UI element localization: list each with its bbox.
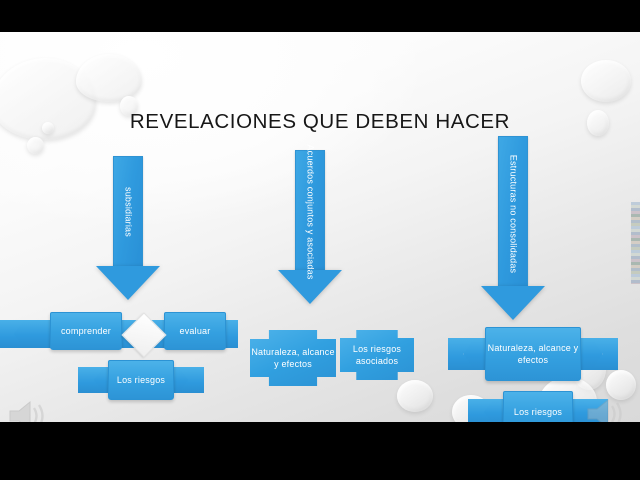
video-player-stage: REVELACIONES QUE DEBEN HACER subsidiaria… <box>0 0 640 480</box>
crossbox-los-riesgos-asociados: Los riesgos asociados <box>340 330 414 380</box>
speaker-icon <box>6 398 48 422</box>
ribbon-plate-los-riesgos: Los riesgos <box>503 391 573 422</box>
slide-canvas: REVELACIONES QUE DEBEN HACER subsidiaria… <box>0 32 640 422</box>
arrow-acuerdos: Acuerdos conjuntos y asociadas <box>270 150 350 305</box>
arrow-estructuras: Estructuras no consolidadas <box>468 136 558 326</box>
droplet-decoration <box>397 380 433 412</box>
arrow-head-icon <box>96 266 160 300</box>
ribbon-left-bottom: Los riesgos <box>78 367 204 393</box>
droplet-decoration <box>76 54 142 102</box>
ribbon-plate-los-riesgos: Los riesgos <box>108 360 174 400</box>
arrow-label: subsidiarias <box>123 187 134 237</box>
edge-color-artifact <box>631 202 640 284</box>
arrow-head-icon <box>481 286 545 320</box>
ribbon-plate-comprender: comprender <box>50 312 122 350</box>
crossbox-naturaleza-alcance-efectos: Naturaleza, alcance y efectos <box>250 330 336 386</box>
arrow-label: Acuerdos conjuntos y asociadas <box>305 144 316 279</box>
ribbon-right-top: Naturaleza, alcance y efectos <box>448 338 618 370</box>
ribbon-plate-evaluar: evaluar <box>164 312 226 350</box>
slide-title: REVELACIONES QUE DEBEN HACER <box>0 110 640 134</box>
ribbon-left-top: comprender evaluar <box>0 320 238 348</box>
droplet-decoration <box>27 137 44 154</box>
letterbox-bar-bottom <box>0 422 640 480</box>
droplet-decoration <box>581 60 631 102</box>
letterbox-bar-top <box>0 0 640 32</box>
arrow-label: Estructuras no consolidadas <box>508 155 519 273</box>
arrow-subsidiarias: subsidiarias <box>88 156 168 301</box>
ribbon-plate-naturaleza: Naturaleza, alcance y efectos <box>485 327 581 381</box>
speaker-icon <box>584 396 626 422</box>
